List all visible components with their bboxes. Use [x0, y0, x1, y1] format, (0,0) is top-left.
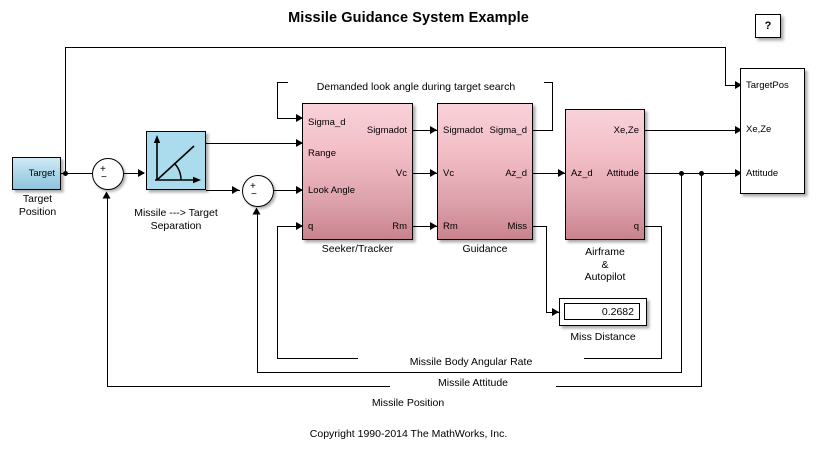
port-scope-in-attitude: Attitude — [746, 169, 778, 179]
wire-sum1-minus — [107, 196, 108, 386]
wire-xeze — [645, 130, 737, 131]
port-guidance-out-miss: Miss — [507, 222, 527, 232]
axes-angle-icon — [147, 132, 205, 189]
block-airframe-autopilot[interactable]: Az_d Xe,Ze Attitude q — [565, 109, 645, 240]
block-scope-output[interactable]: TargetPos Xe,Ze Attitude — [740, 68, 805, 194]
caption-target-position: Target Position — [0, 193, 75, 218]
port-guidance-in-rm: Rm — [443, 222, 458, 232]
port-airframe-out-attitude: Attitude — [607, 169, 639, 179]
wire-target-up — [65, 47, 66, 174]
block-guidance[interactable]: Sigmadot Vc Rm Sigma_d Az_d Miss — [437, 103, 533, 240]
block-missile-target-separation[interactable] — [146, 131, 206, 190]
port-seeker-out-rm: Rm — [392, 222, 407, 232]
sum1-minus-sign: − — [101, 173, 107, 183]
port-seeker-in-look-angle: Look Angle — [308, 186, 355, 196]
wire-sep-range — [206, 143, 302, 144]
port-scope-in-xeze: Xe,Ze — [746, 125, 771, 135]
caption-separation: Missile ---> Target Separation — [118, 207, 234, 232]
arrow-airframe-azd — [558, 169, 565, 177]
caption-guidance: Guidance — [437, 243, 533, 256]
port-scope-in-targetpos: TargetPos — [746, 81, 789, 91]
port-airframe-out-q: q — [634, 222, 639, 232]
annotation-missile-attitude: Missile Attitude — [390, 377, 556, 389]
caption-seeker-tracker: Seeker/Tracker — [302, 243, 413, 256]
port-guidance-in-vc: Vc — [443, 169, 454, 179]
arrow-sum2 — [232, 186, 239, 194]
port-target-out: Target — [29, 169, 55, 179]
wire-miss-down — [546, 226, 547, 312]
port-seeker-in-q: q — [308, 222, 313, 232]
sum2-minus-sign: − — [251, 190, 257, 200]
arrow-guidance-rm — [430, 222, 437, 230]
arrow-separation-in — [138, 169, 145, 177]
wire-sigmad-up — [552, 82, 553, 131]
miss-distance-value: 0.2682 — [564, 303, 640, 320]
block-miss-distance[interactable]: 0.2682 — [559, 298, 647, 326]
port-guidance-out-az-d: Az_d — [505, 169, 527, 179]
sum-junction-1[interactable]: + − — [92, 158, 124, 190]
help-button[interactable]: ? — [755, 14, 781, 38]
arrow-sum1-minus — [102, 192, 110, 199]
simulink-canvas: Missile Guidance System Example ? — [0, 0, 817, 455]
arrow-guidance-sigmadot — [430, 126, 437, 134]
wire-top-rail — [65, 47, 725, 48]
wire-q-down — [661, 226, 662, 359]
wire-sigmad-out — [533, 130, 553, 131]
port-seeker-out-vc: Vc — [396, 169, 407, 179]
wire-sum2-minus — [257, 212, 258, 372]
wire-missile-position-up — [701, 174, 702, 387]
port-seeker-out-sigmadot: Sigmadot — [367, 126, 407, 136]
wire-missile-attitude — [257, 372, 681, 373]
port-guidance-out-sigma-d: Sigma_d — [490, 126, 528, 136]
question-mark-icon: ? — [765, 20, 772, 32]
port-airframe-in-az-d: Az_d — [571, 169, 593, 179]
annotation-body-angular-rate: Missile Body Angular Rate — [358, 356, 584, 368]
port-seeker-in-range: Range — [308, 149, 336, 159]
caption-miss-distance: Miss Distance — [553, 331, 653, 344]
arrow-sum2-minus — [252, 208, 260, 215]
wire-sigmad-down — [277, 82, 278, 118]
copyright-notice: Copyright 1990-2014 The MathWorks, Inc. — [0, 428, 817, 440]
wire-top-down — [725, 47, 726, 85]
block-seeker-tracker[interactable]: Sigma_d Range Look Angle q Sigmadot Vc R… — [302, 103, 413, 240]
caption-airframe: Airframe & Autopilot — [560, 246, 650, 284]
sum-junction-2[interactable]: + − — [242, 175, 274, 207]
wire-missile-attitude-up — [681, 174, 682, 373]
block-target-position[interactable]: Target — [12, 157, 61, 190]
page-title: Missile Guidance System Example — [0, 10, 817, 26]
port-airframe-out-xeze: Xe,Ze — [614, 126, 639, 136]
wire-airframe-q-out — [645, 226, 662, 227]
arrow-miss-display — [552, 308, 559, 316]
annotation-missile-position: Missile Position — [330, 397, 486, 409]
wire-attitude — [645, 173, 737, 174]
port-guidance-in-sigmadot: Sigmadot — [443, 126, 483, 136]
port-seeker-in-sigma-d: Sigma_d — [308, 118, 346, 128]
annotation-demanded-look-angle: Demanded look angle during target search — [288, 81, 544, 93]
arrow-guidance-vc — [430, 169, 437, 177]
wire-q-left-riser — [277, 226, 278, 358]
